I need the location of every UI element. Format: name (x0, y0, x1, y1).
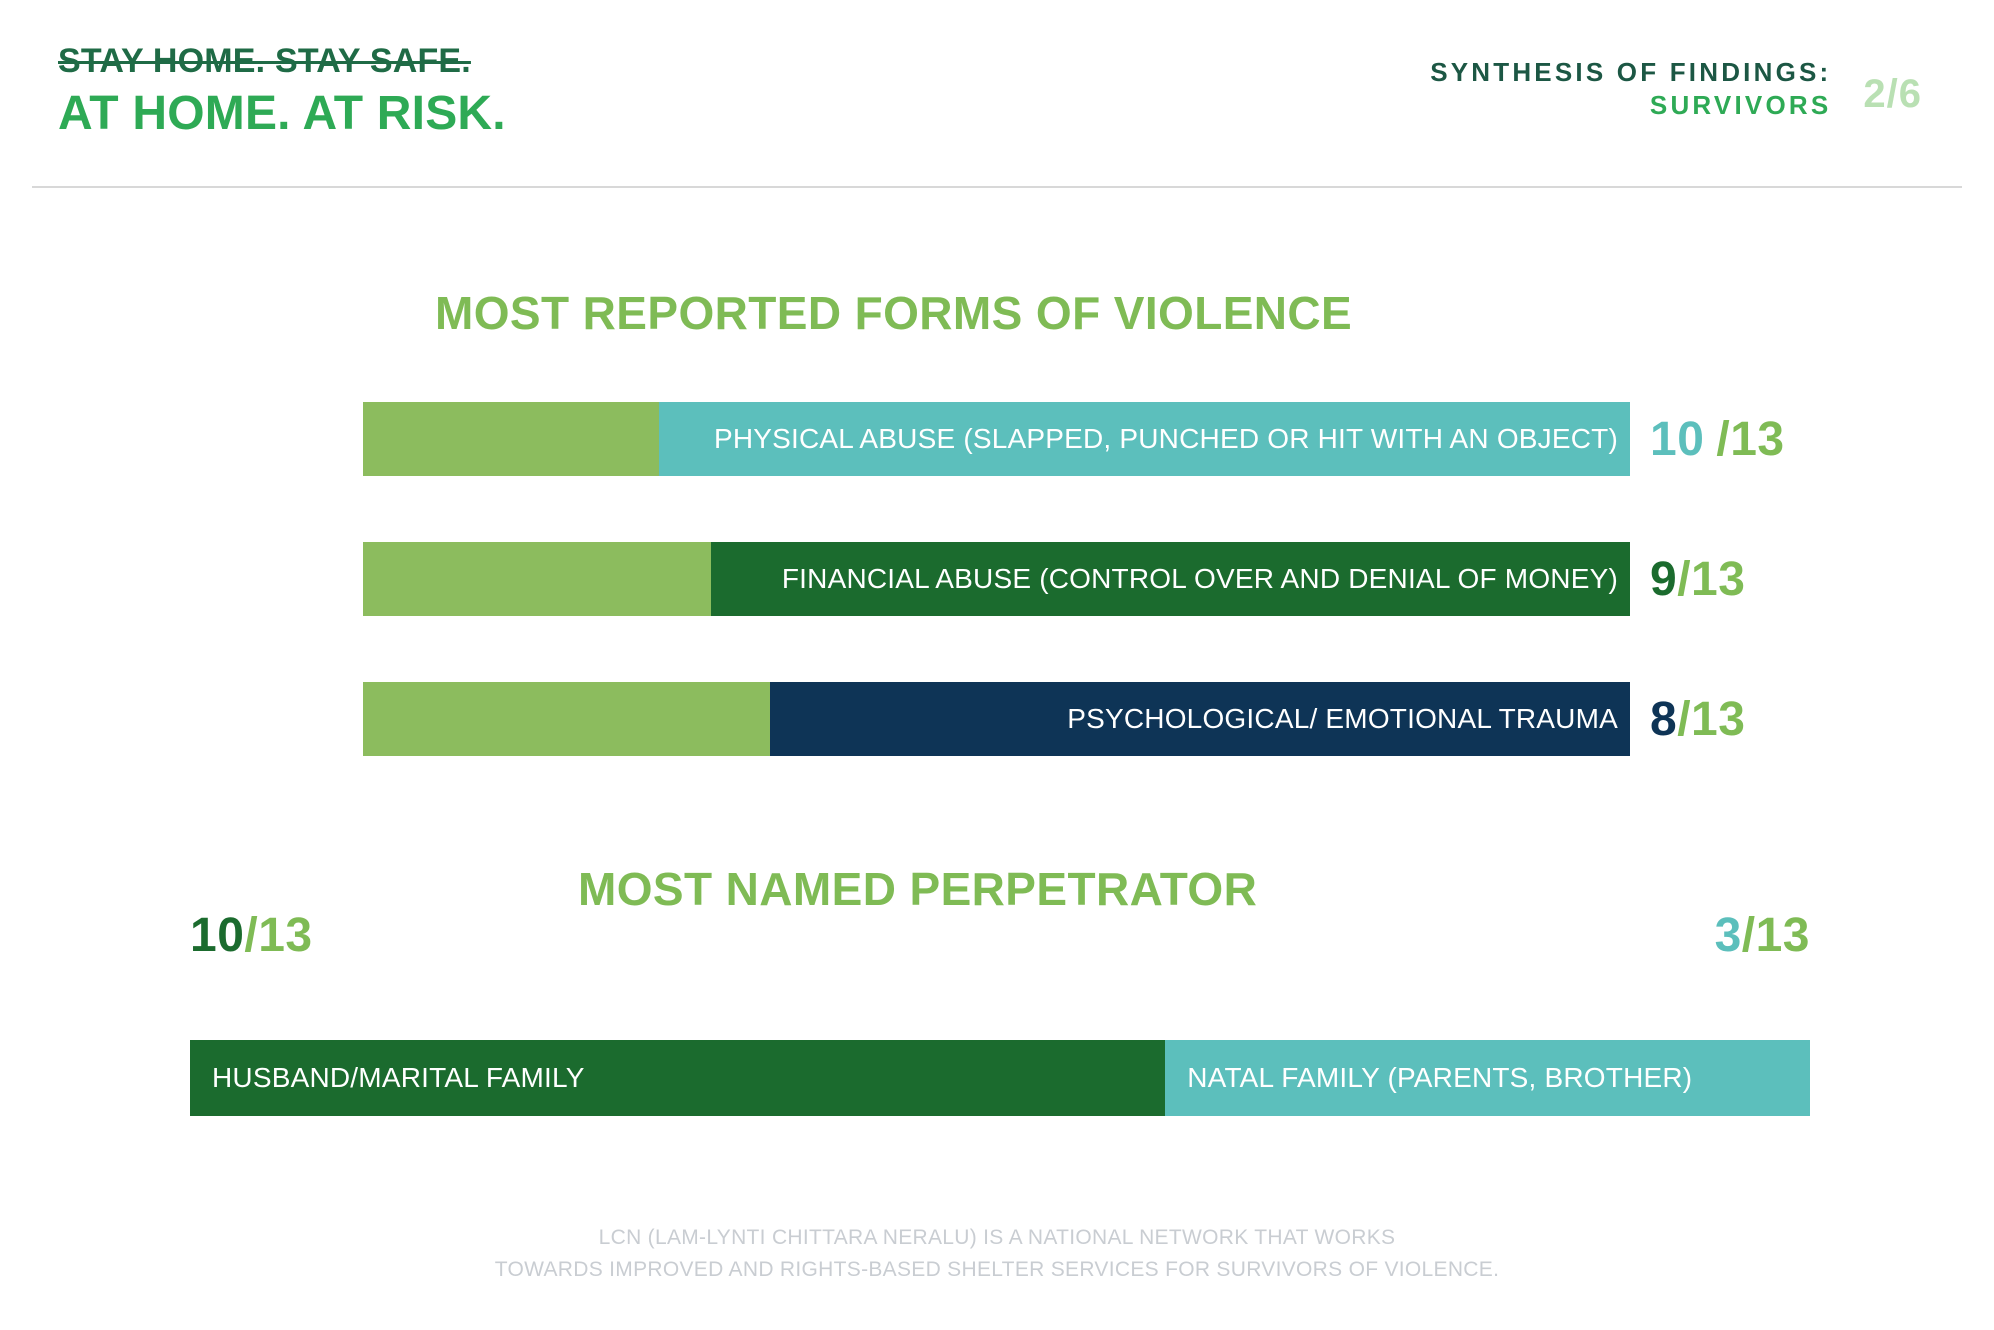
perpetrator-value-number-left: 10 (190, 909, 244, 962)
bar-row: FINANCIAL ABUSE (CONTROL OVER AND DENIAL… (363, 542, 1630, 616)
footer-line-2: TOWARDS IMPROVED AND RIGHTS-BASED SHELTE… (0, 1254, 1994, 1286)
header-kicker-sub: SURVIVORS (1430, 89, 1831, 122)
bar-label: PSYCHOLOGICAL/ EMOTIONAL TRAUMA (1067, 703, 1618, 735)
page-indicator: 2/6 (1863, 70, 1922, 118)
perpetrator-segment: HUSBAND/MARITAL FAMILY (190, 1040, 1165, 1116)
header-kicker-block: SYNTHESIS OF FINDINGS: SURVIVORS (1430, 56, 1831, 121)
header-kicker: SYNTHESIS OF FINDINGS: (1430, 56, 1831, 89)
perpetrator-value-denominator-right: /13 (1742, 909, 1810, 962)
header-divider (32, 186, 1962, 188)
bar-value-number: 8 (1650, 692, 1677, 747)
bar-fill-segment: PSYCHOLOGICAL/ EMOTIONAL TRAUMA (770, 682, 1630, 756)
bar-row: PSYCHOLOGICAL/ EMOTIONAL TRAUMA (363, 682, 1630, 756)
bar-label: PHYSICAL ABUSE (SLAPPED, PUNCHED OR HIT … (714, 423, 1618, 455)
perpetrator-value-row: 10/13 3/13 (190, 908, 1810, 963)
bar-label: FINANCIAL ABUSE (CONTROL OVER AND DENIAL… (782, 563, 1618, 595)
bar-value-group: 10/13 (1650, 402, 1785, 476)
bar-value-group: 9/13 (1650, 542, 1745, 616)
section-title-perpetrator: MOST NAMED PERPETRATOR (578, 866, 1257, 912)
perpetrator-bar: HUSBAND/MARITAL FAMILY NATAL FAMILY (PAR… (190, 1040, 1810, 1116)
perpetrator-value-left-group: 10/13 (190, 908, 313, 963)
footer-note: LCN (LAM-LYNTI CHITTARA NERALU) IS A NAT… (0, 1222, 1994, 1285)
bar-value-denominator: /13 (1716, 412, 1784, 467)
brand-lockup: STAY HOME. STAY SAFE. AT HOME. AT RISK. (58, 44, 506, 138)
perpetrator-segment: NATAL FAMILY (PARENTS, BROTHER) (1165, 1040, 1810, 1116)
bar-value-denominator: /13 (1677, 692, 1745, 747)
perpetrator-value-denominator-left: /13 (244, 909, 312, 962)
bar-value-number: 9 (1650, 552, 1677, 607)
bar-track-segment (363, 682, 770, 756)
perpetrator-value-number-right: 3 (1715, 909, 1742, 962)
bar-value-denominator: /13 (1677, 552, 1745, 607)
perpetrator-segment-label: NATAL FAMILY (PARENTS, BROTHER) (1187, 1062, 1692, 1094)
bar-value-group: 8/13 (1650, 682, 1745, 756)
perpetrator-value-right-group: 3/13 (1715, 908, 1810, 963)
brand-strikethrough-text: STAY HOME. STAY SAFE. (58, 44, 506, 78)
page-header: STAY HOME. STAY SAFE. AT HOME. AT RISK. … (0, 0, 1994, 188)
footer-line-1: LCN (LAM-LYNTI CHITTARA NERALU) IS A NAT… (0, 1222, 1994, 1254)
bar-track-segment (363, 402, 659, 476)
bar-row: PHYSICAL ABUSE (SLAPPED, PUNCHED OR HIT … (363, 402, 1630, 476)
bar-fill-segment: FINANCIAL ABUSE (CONTROL OVER AND DENIAL… (711, 542, 1630, 616)
bar-fill-segment: PHYSICAL ABUSE (SLAPPED, PUNCHED OR HIT … (659, 402, 1630, 476)
section-title-violence: MOST REPORTED FORMS OF VIOLENCE (435, 290, 1352, 336)
header-meta: SYNTHESIS OF FINDINGS: SURVIVORS 2/6 (1102, 56, 1922, 121)
bar-value-number: 10 (1650, 412, 1704, 467)
bar-track-segment (363, 542, 711, 616)
perpetrator-segment-label: HUSBAND/MARITAL FAMILY (212, 1062, 585, 1094)
brand-title: AT HOME. AT RISK. (58, 90, 506, 138)
